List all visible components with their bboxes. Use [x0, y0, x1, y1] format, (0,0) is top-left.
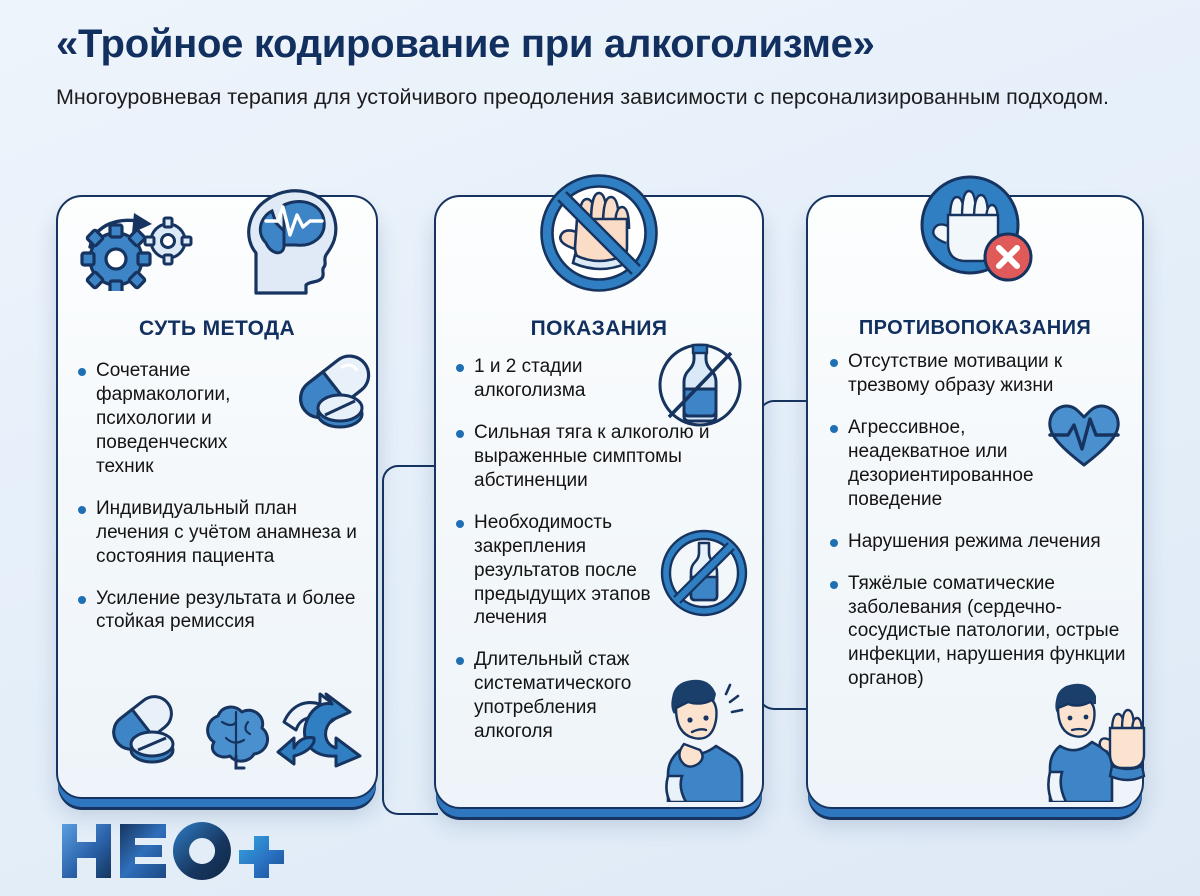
list-item: Отсутствие мотивации к трезвому образу ж…	[830, 350, 1130, 398]
header: «Тройное кодирование при алкоголизме» Мн…	[0, 0, 1200, 112]
pills-icon	[106, 690, 190, 779]
man-raised-hand-icon	[1036, 676, 1146, 807]
gears-icon	[74, 205, 194, 296]
head-brain-pulse-icon	[226, 175, 354, 306]
list-item: Усиление результата и более стойкая реми…	[78, 587, 360, 635]
card-2-header	[436, 197, 762, 315]
card-1-title: СУТЬ МЕТОДА	[58, 317, 376, 341]
list-item: Тяжёлые соматические заболевания (сердеч…	[830, 572, 1130, 692]
card-1-header	[58, 197, 376, 315]
stop-hand-prohibition-icon	[535, 169, 663, 302]
neo-plus-logo[interactable]	[58, 820, 288, 882]
card-sut-metoda[interactable]: СУТЬ МЕТОДА Сочетание фармакологии, псих…	[56, 195, 378, 799]
list-item: 1 и 2 стадии алкоголизма	[456, 355, 746, 403]
card-3-header	[808, 197, 1142, 315]
card-2-bullets: 1 и 2 стадии алкоголизма Сильная тяга к …	[436, 355, 762, 744]
brain-icon	[196, 694, 276, 779]
list-item: Сильная тяга к алкоголю и выраженные сим…	[456, 421, 746, 493]
list-item: Необходимость закрепления результатов по…	[456, 511, 746, 631]
shuffle-arrows-icon	[274, 686, 372, 775]
list-item: Агрессивное, неадекватное или дезориенти…	[830, 416, 1130, 512]
list-item: Индивидуальный план лечения с учётом ана…	[78, 497, 360, 569]
cards-row: СУТЬ МЕТОДА Сочетание фармакологии, псих…	[0, 195, 1200, 815]
connector-card1-card2	[382, 465, 438, 815]
card-1-bullets: Сочетание фармакологии, психологии и пов…	[58, 359, 376, 634]
card-3-bullets: Отсутствие мотивации к трезвому образу ж…	[808, 350, 1142, 691]
page-title: «Тройное кодирование при алкоголизме»	[56, 22, 1200, 67]
card-protivopokazaniya[interactable]: ПРОТИВОПОКАЗАНИЯ Отсутствие мотивации к …	[806, 195, 1144, 809]
card-2-title: ПОКАЗАНИЯ	[436, 317, 762, 341]
card-pokazaniya[interactable]: ПОКАЗАНИЯ 1 и 2 стади	[434, 195, 764, 809]
list-item: Сочетание фармакологии, психологии и пов…	[78, 359, 360, 479]
card-3-title: ПРОТИВОПОКАЗАНИЯ	[808, 317, 1142, 340]
list-item: Длительный стаж систематического употреб…	[456, 648, 746, 744]
page-subtitle: Многоуровневая терапия для устойчивого п…	[56, 83, 1136, 113]
hand-stop-cross-icon	[912, 169, 1038, 300]
connector-card2-card3	[758, 400, 810, 710]
list-item: Нарушения режима лечения	[830, 530, 1130, 554]
